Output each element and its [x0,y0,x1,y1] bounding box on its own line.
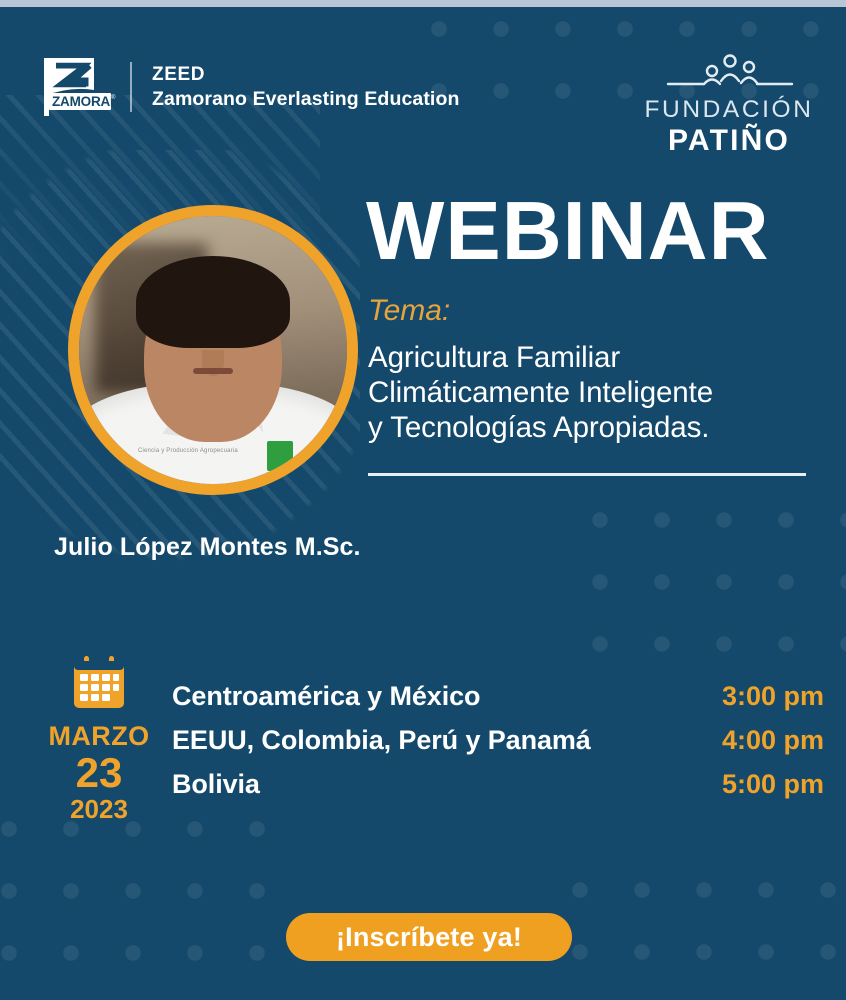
topic-line-3: y Tecnologías Apropiadas. [368,410,818,445]
portrait-shirt-logo-text: ZAMORANO [271,472,315,479]
zamorano-logo: ZAMORANO ® [34,56,118,118]
portrait-shirt-embroidery: Ciencia y Producción Agropecuaria [138,447,238,455]
dot-pattern-mid-right [560,480,846,680]
tema-label: Tema: [368,292,450,330]
topic-line-1: Agricultura Familiar [368,340,818,375]
event-month: MARZO [26,721,172,751]
zeed-full-name: Zamorano Everlasting Education [152,87,459,112]
zeed-text-block: ZEED Zamorano Everlasting Education [152,63,459,112]
register-button[interactable]: ¡Inscríbete ya! [286,913,572,961]
calendar-icon [68,655,130,713]
event-date-block: MARZO 23 2023 [26,655,172,824]
schedule-list: Centroamérica y México 3:00 pm EEUU, Col… [172,674,824,806]
schedule-row: Centroamérica y México 3:00 pm [172,674,824,718]
portrait-shirt-logo [267,441,293,471]
event-day: 23 [26,751,172,795]
poster-header: ZAMORANO ® ZEED Zamorano Everlasting Edu… [0,0,846,150]
schedule-time: 4:00 pm [722,718,824,762]
schedule-zone: EEUU, Colombia, Perú y Panamá [172,718,591,762]
topic-line-2: Climáticamente Inteligente [368,375,818,410]
speaker-name: Julio López Montes M.Sc. [54,531,361,563]
schedule-zone: Bolivia [172,762,260,806]
patino-line1: FUNDACIÓN [634,96,824,124]
schedule-zone: Centroamérica y México [172,674,480,718]
page-title: WEBINAR [366,186,770,276]
schedule-time: 3:00 pm [722,674,824,718]
svg-text:®: ® [111,94,116,101]
zeed-divider [130,62,132,112]
patino-line2: PATIÑO [634,124,824,157]
webinar-poster: ZAMORANO ® ZEED Zamorano Everlasting Edu… [0,0,846,1000]
portrait-photo: Ciencia y Producción Agropecuaria ZAMORA… [79,216,347,484]
portrait-mouth [193,368,233,374]
dot-pattern-bottom-right [540,850,846,1000]
fundacion-patino-logo: FUNDACIÓN PATIÑO [634,50,824,157]
event-year: 2023 [26,795,172,824]
dot-pattern-lower-left [0,820,300,1000]
svg-text:ZAMORANO: ZAMORANO [52,94,118,109]
zeed-abbr: ZEED [152,63,459,87]
zeed-brand-block: ZAMORANO ® ZEED Zamorano Everlasting Edu… [34,56,459,118]
speaker-portrait: Ciencia y Producción Agropecuaria ZAMORA… [68,205,358,495]
schedule-row: Bolivia 5:00 pm [172,762,824,806]
three-people-icon [654,50,804,94]
schedule-time: 5:00 pm [722,762,824,806]
schedule-row: EEUU, Colombia, Perú y Panamá 4:00 pm [172,718,824,762]
webinar-topic: Agricultura Familiar Climáticamente Inte… [368,340,818,445]
portrait-hair [136,256,290,348]
topic-divider [368,473,806,476]
